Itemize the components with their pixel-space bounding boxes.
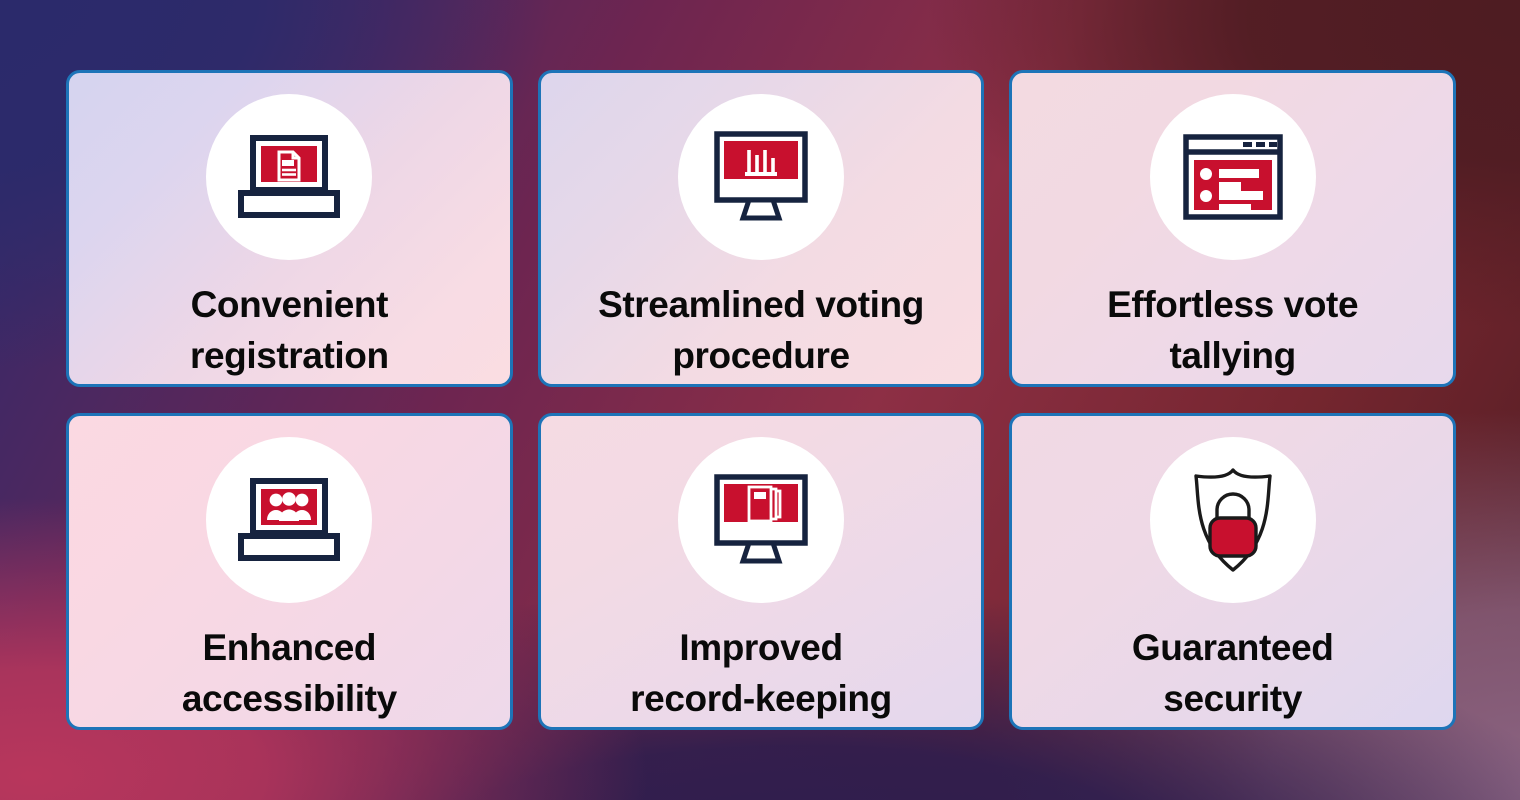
card-title: Guaranteed security: [1012, 623, 1453, 724]
card-title: Convenient registration: [69, 280, 510, 381]
icon-bubble: [1150, 437, 1316, 603]
icon-bubble: [206, 94, 372, 260]
laptop-people-icon: [237, 478, 341, 562]
card-title: Improved record-keeping: [541, 623, 982, 724]
icon-bubble: [1150, 94, 1316, 260]
icon-bubble: [678, 94, 844, 260]
monitor-bar-chart-icon: [711, 131, 811, 223]
card-title: Effortless vote tallying: [1012, 280, 1453, 381]
card-title: Enhanced accessibility: [69, 623, 510, 724]
feature-card-enhanced-accessibility[interactable]: Enhanced accessibility: [66, 413, 513, 730]
feature-card-effortless-vote-tallying[interactable]: Effortless vote tallying: [1009, 70, 1456, 387]
monitor-book-icon: [711, 474, 811, 566]
card-title: Streamlined voting procedure: [541, 280, 982, 381]
feature-card-convenient-registration[interactable]: Convenient registration: [66, 70, 513, 387]
feature-card-improved-record-keeping[interactable]: Improved record-keeping: [538, 413, 985, 730]
feature-card-streamlined-voting-procedure[interactable]: Streamlined voting procedure: [538, 70, 985, 387]
feature-card-grid: Convenient registration: [66, 70, 1456, 730]
feature-card-guaranteed-security[interactable]: Guaranteed security: [1009, 413, 1456, 730]
laptop-document-icon: [237, 135, 341, 219]
shield-lock-icon: [1185, 466, 1281, 574]
browser-list-icon: [1183, 134, 1283, 220]
icon-bubble: [206, 437, 372, 603]
icon-bubble: [678, 437, 844, 603]
